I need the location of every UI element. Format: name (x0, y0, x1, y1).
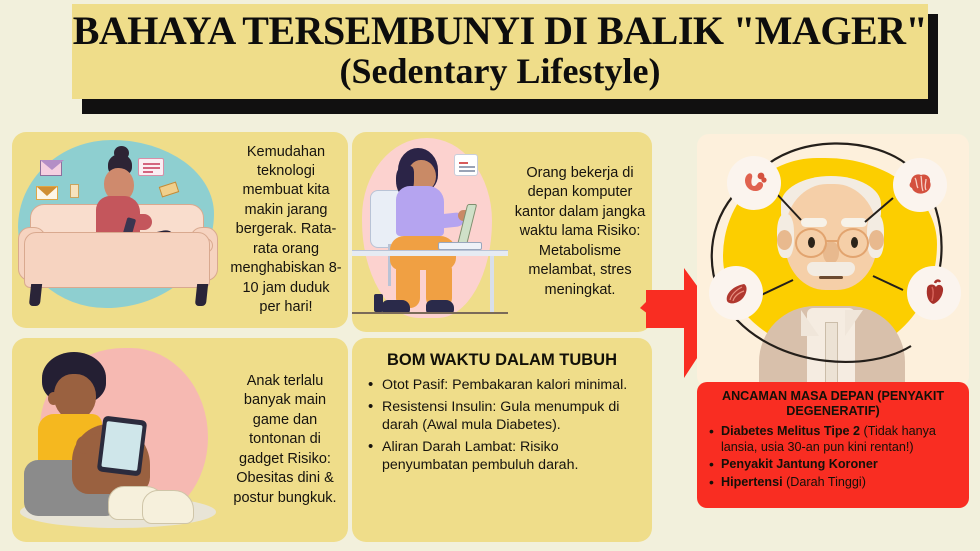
list-item: Aliran Darah Lambat: Risiko penyumbatan … (366, 438, 638, 475)
laptop-base (438, 242, 482, 250)
couch-seat (24, 232, 210, 288)
floor-line (352, 312, 508, 314)
bomb-bullet-list: Otot Pasif: Pembakaran kalori minimal. R… (366, 376, 638, 474)
panel-child: Anak terlalu banyak main game dan tonton… (12, 338, 348, 542)
heart-organ-icon (907, 266, 961, 320)
couch-leg-right (195, 284, 208, 306)
list-item: Resistensi Insulin: Gula menumpuk di dar… (366, 398, 638, 435)
tablet-icon (97, 416, 147, 477)
panel-office-caption: Orang bekerja di depan komputer kantor d… (508, 132, 652, 332)
message-card-icon (138, 158, 164, 176)
desk-surface (352, 250, 508, 256)
panel-body-time-bomb: BOM WAKTU DALAM TUBUH Otot Pasif: Pembak… (352, 338, 652, 542)
note-icon (70, 184, 79, 198)
brain-organ-icon (893, 158, 947, 212)
list-item: Otot Pasif: Pembakaran kalori minimal. (366, 376, 638, 394)
woman-at-desk-illustration (352, 132, 508, 332)
document-icon (454, 154, 478, 176)
bomb-panel-title: BOM WAKTU DALAM TUBUH (366, 350, 638, 370)
threat-list: Diabetes Melitus Tipe 2 (Tidak hanya lan… (707, 423, 959, 490)
panel-couch-caption: Kemudahan teknologi membuat kita makin j… (224, 132, 348, 328)
threat-name: Penyakit Jantung Koroner (721, 457, 878, 471)
title-band: BAHAYA TERSEMBUNYI DI BALIK "MAGER" (Sed… (72, 4, 928, 99)
threat-detail: (Darah Tinggi) (783, 475, 866, 489)
threat-box: ANCAMAN MASA DEPAN (PENYAKIT DEGENERATIF… (697, 382, 969, 508)
woman-on-couch-illustration (12, 132, 224, 328)
page-title-line-1: BAHAYA TERSEMBUNYI DI BALIK "MAGER" (73, 11, 928, 52)
panel-elderly-man (697, 134, 969, 388)
threat-name: Hipertensi (721, 475, 783, 489)
panel-couch: Kemudahan teknologi membuat kita makin j… (12, 132, 348, 328)
list-item: Penyakit Jantung Koroner (707, 456, 959, 472)
threat-box-title: ANCAMAN MASA DEPAN (PENYAKIT DEGENERATIF… (707, 389, 959, 420)
threat-name: Diabetes Melitus Tipe 2 (721, 424, 860, 438)
stomach-organ-icon (727, 156, 781, 210)
boy-shoe-right (142, 490, 194, 524)
panel-child-caption: Anak terlalu banyak main game dan tonton… (222, 338, 348, 542)
mail-icon (36, 186, 58, 200)
boy-with-tablet-illustration (12, 338, 222, 542)
lung-organ-icon (709, 266, 763, 320)
panel-office: Orang bekerja di depan komputer kantor d… (352, 132, 652, 332)
list-item: Hipertensi (Darah Tinggi) (707, 474, 959, 490)
page-title-banner: BAHAYA TERSEMBUNYI DI BALIK "MAGER" (Sed… (72, 4, 928, 108)
page-title-line-2: (Sedentary Lifestyle) (340, 52, 661, 92)
boy-ear (48, 392, 59, 405)
couch-leg-left (29, 284, 42, 306)
list-item: Diabetes Melitus Tipe 2 (Tidak hanya lan… (707, 423, 959, 456)
desk-leg (490, 256, 494, 314)
envelope-icon (40, 160, 62, 176)
